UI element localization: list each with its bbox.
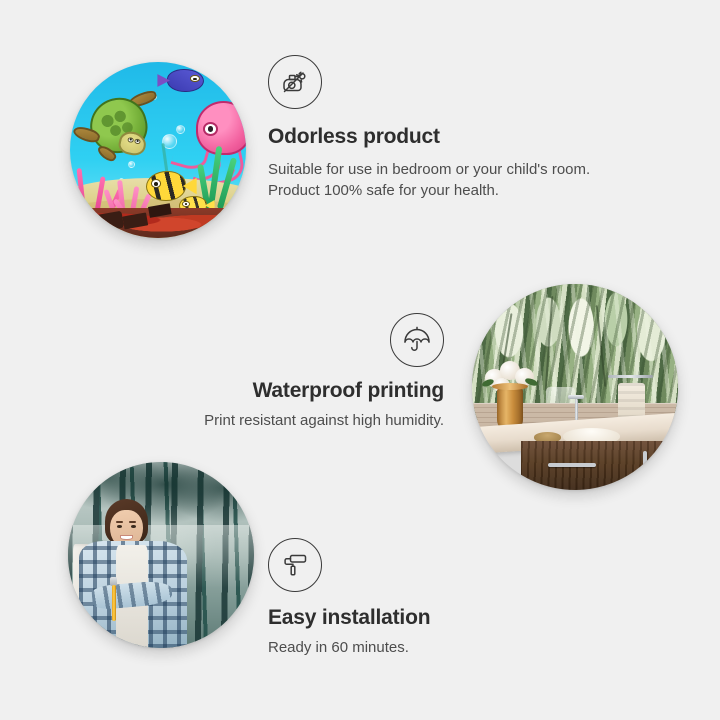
forest-scene (68, 462, 254, 648)
towel-bar (608, 375, 653, 378)
cabinet-handle (670, 451, 674, 473)
feature-description: Suitable for use in bedroom or your chil… (268, 159, 604, 202)
underwater-cartoon-mural-photo[interactable] (70, 62, 246, 238)
feature-title: Odorless product (268, 125, 604, 150)
feature-title: Easy installation (268, 606, 568, 631)
wood-vanity-cabinet (521, 441, 678, 490)
blue-fish-icon (167, 69, 204, 92)
feature-showcase: Odorless product Suitable for use in bed… (0, 0, 720, 720)
shipwreck (70, 208, 246, 238)
woman-with-paint-roller-forest-photo[interactable] (68, 462, 254, 648)
bathroom-tropical-wallpaper-photo[interactable] (472, 284, 678, 490)
feature-description: Print resistant against high humidity. (140, 410, 444, 431)
drawer-handle (548, 463, 595, 467)
feature-waterproof: Waterproof printing Print resistant agai… (140, 313, 444, 431)
paint-roller-icon (268, 538, 322, 592)
sea-turtle-icon (77, 95, 169, 165)
umbrella-icon (390, 313, 444, 367)
bathroom-scene (472, 284, 678, 490)
feature-description: Ready in 60 minutes. (268, 637, 568, 658)
underwater-scene (70, 62, 246, 238)
no-odor-perfume-bottle-icon (268, 55, 322, 109)
woman-figure (79, 499, 187, 648)
feature-odorless: Odorless product Suitable for use in bed… (268, 55, 604, 201)
paint-roller-held (105, 577, 122, 622)
feature-title: Waterproof printing (140, 379, 444, 404)
octopus-icon (176, 101, 246, 189)
cabinet-handle (643, 451, 647, 473)
feature-installation: Easy installation Ready in 60 minutes. (268, 538, 568, 658)
